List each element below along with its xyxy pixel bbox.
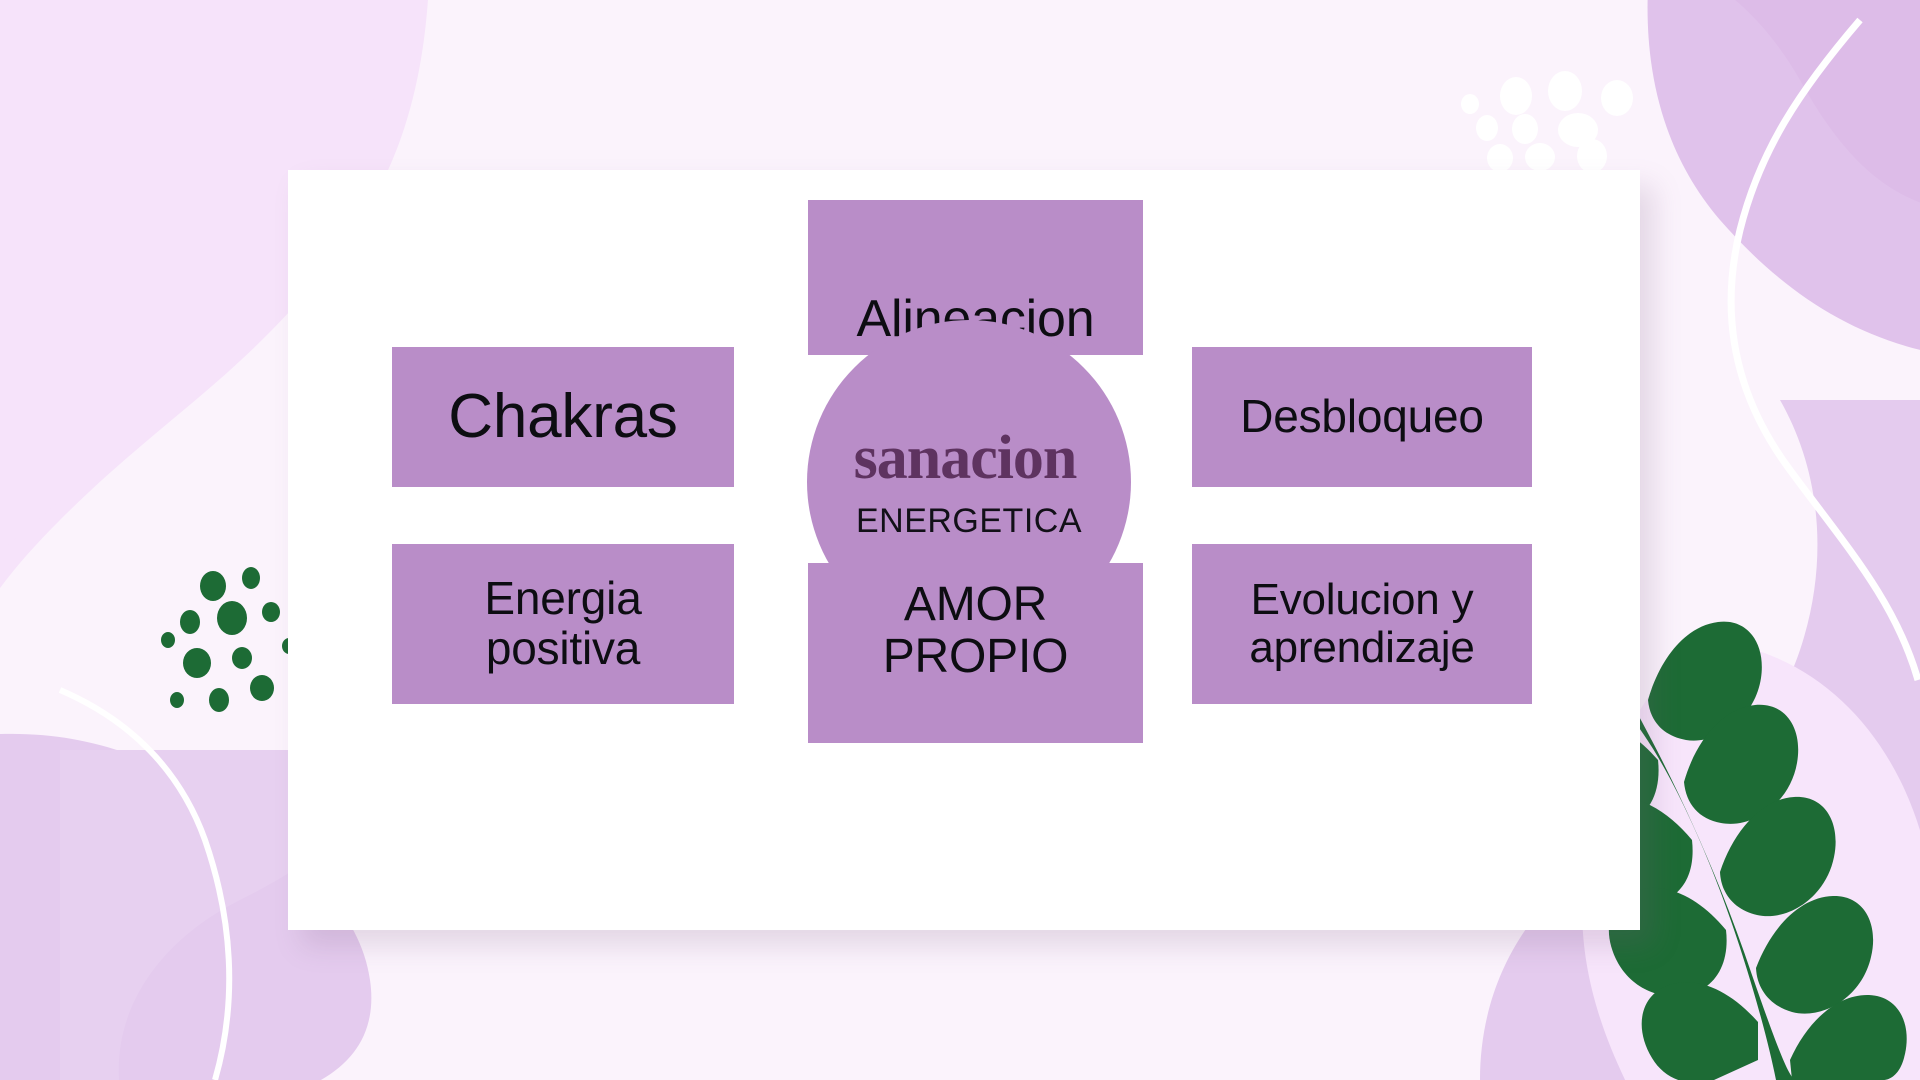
page-subtitle: ENERGETICA (856, 502, 1082, 541)
page-title: sanacion (854, 423, 1077, 494)
box-amor-propio-label: AMOR PROPIO (883, 579, 1069, 683)
box-desbloqueo-label: Desbloqueo (1240, 392, 1484, 442)
box-evolucion-line1: Evolucion y (1251, 575, 1474, 624)
box-energia-positiva-label: Energia positiva (484, 574, 641, 673)
box-amor-propio-line2: PROPIO (883, 630, 1069, 683)
box-energia-positiva-line2: positiva (486, 622, 640, 674)
box-evolucion-aprendizaje[interactable]: Evolucion y aprendizaje (1192, 544, 1532, 704)
box-desbloqueo[interactable]: Desbloqueo (1192, 347, 1532, 487)
box-evolucion-aprendizaje-label: Evolucion y aprendizaje (1249, 576, 1474, 671)
box-energia-positiva[interactable]: Energia positiva (392, 544, 734, 704)
box-evolucion-line2: aprendizaje (1249, 623, 1474, 672)
slide-card: Chakras Energia positiva Desbloqueo Evol… (288, 170, 1640, 930)
box-chakras[interactable]: Chakras (392, 347, 734, 487)
box-chakras-label: Chakras (448, 384, 677, 451)
box-amor-propio-line1: AMOR (904, 578, 1047, 631)
box-energia-positiva-line1: Energia (484, 572, 641, 624)
box-amor-propio[interactable]: AMOR PROPIO (808, 563, 1143, 743)
